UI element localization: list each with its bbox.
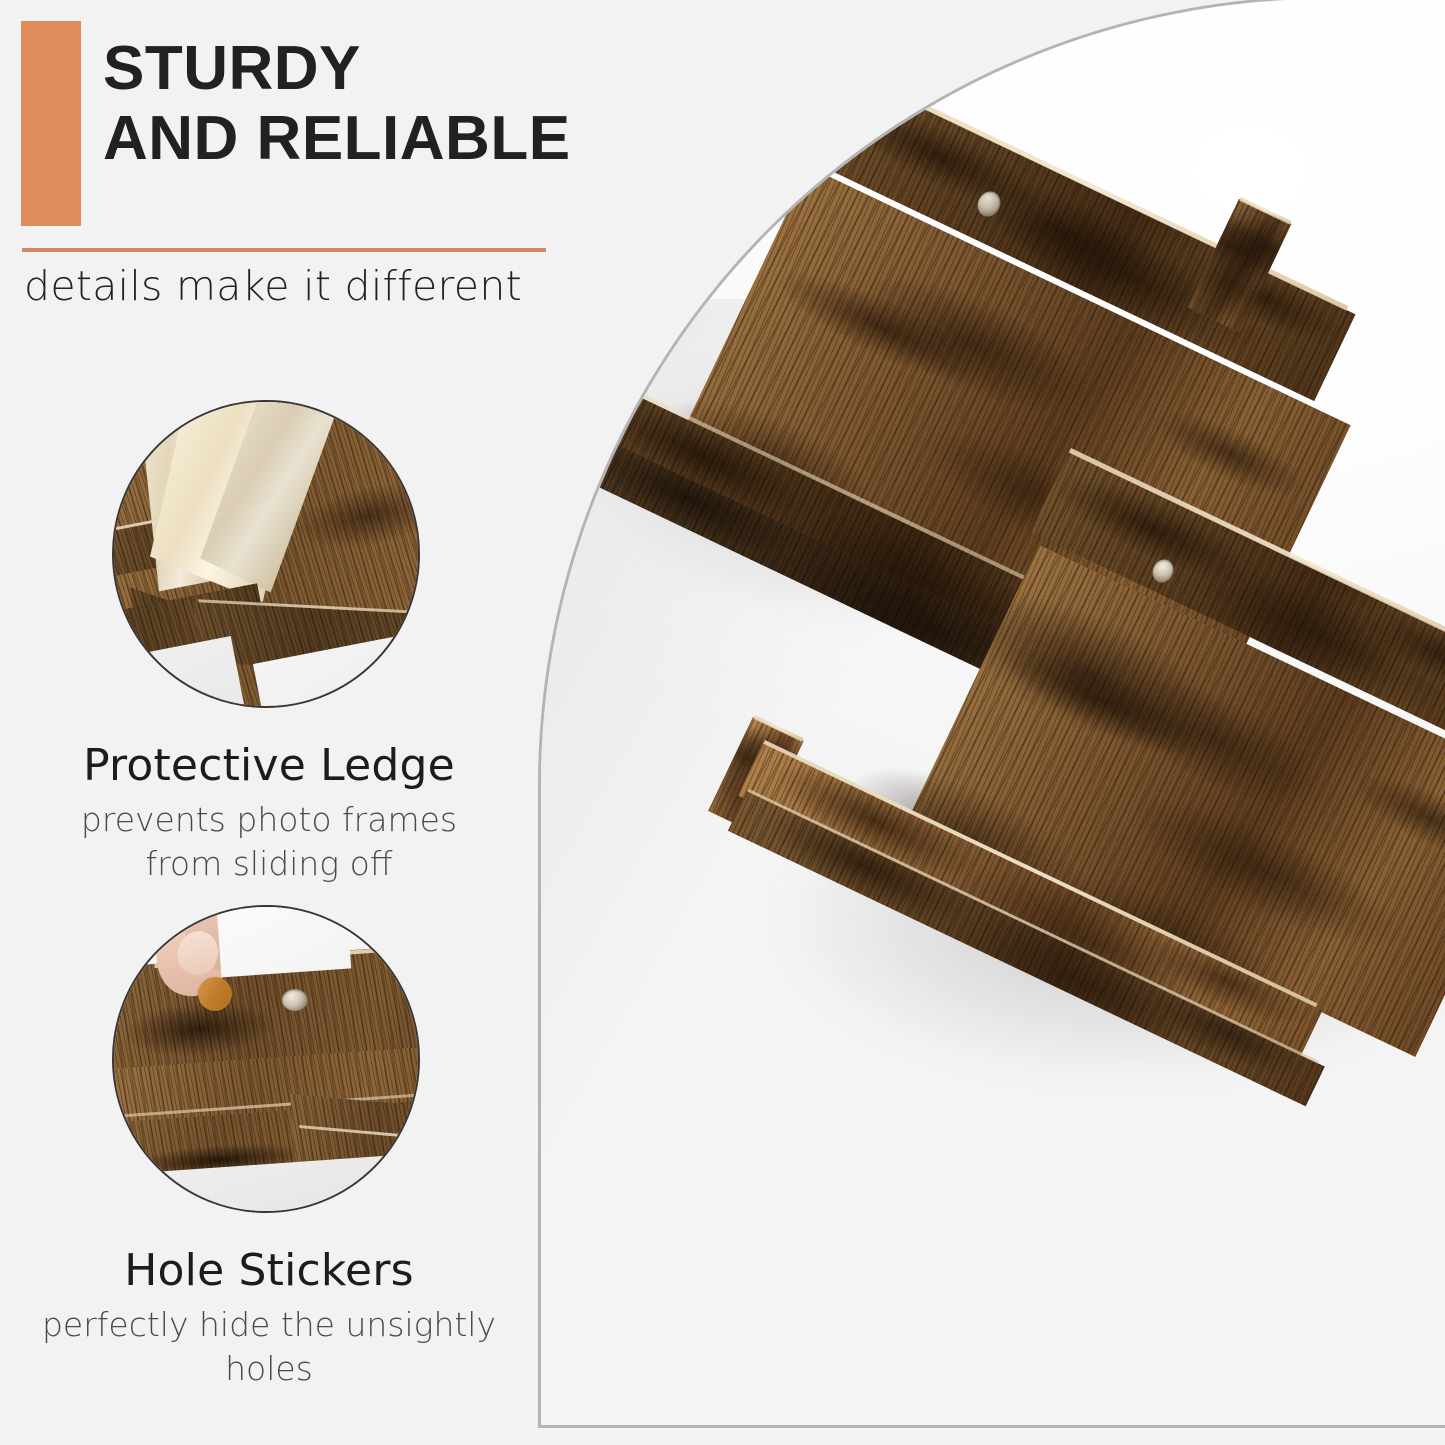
page-subtitle: details make it different [24,262,544,310]
page-title: STURDY AND RELIABLE [103,34,533,174]
protective-ledge-photo [112,400,420,708]
feature-subtitle: perfectly hide the unsightly holes [0,1303,538,1390]
product-photo [541,0,1445,1425]
accent-bar [21,21,81,226]
page-title-line-1: STURDY [103,34,533,104]
hole-stickers-photo [112,905,420,1213]
feature-subtitle: prevents photo frames from sliding off [0,798,538,885]
protective-ledge-scene [114,402,418,706]
divider-rule [22,248,546,252]
page-title-line-2: AND RELIABLE [103,104,533,174]
feature-subtitle-line-1: perfectly hide the unsightly holes [0,1303,538,1390]
infographic-canvas: STURDY AND RELIABLE details make it diff… [0,0,1445,1445]
feature-subtitle-line-1: prevents photo frames [0,798,538,842]
feature-title: Protective Ledge [0,740,538,791]
product-photo-panel [538,0,1445,1428]
feature-title: Hole Stickers [0,1245,538,1296]
left-content-column: STURDY AND RELIABLE details make it diff… [0,0,538,1445]
feature-subtitle-line-2: from sliding off [0,842,538,886]
hole-stickers-scene [114,907,418,1211]
